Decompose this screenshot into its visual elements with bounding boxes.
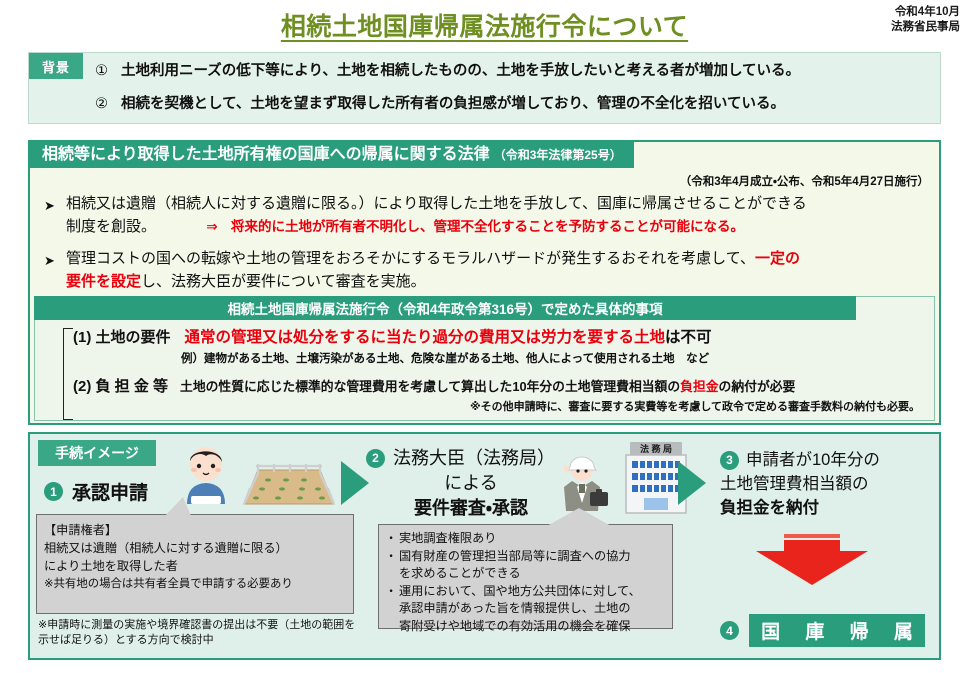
callout-line: ・ 実地調査権限あり [385,530,666,548]
step-3-line-3: 負担金を納付 [720,496,930,520]
callout-line: ・ 運用において、国や地方公共団体に対して、 [385,583,666,601]
law-bullet-emphasis: 要件を設定 [66,273,141,290]
spec-row-note: ※その他申請時に、審査に要する実費等を考慮して政令で定める審査手数料の納付も必要… [57,398,926,414]
step-1-number: 1 [44,482,63,501]
bullet-arrow-icon: ➤ [44,249,55,272]
law-bullet-emphasis: 一定の [755,250,800,267]
law-bullet-line: 要件を設定し、法務大臣が要件について審査を実施。 [66,270,931,293]
spec-box: 相続土地国庫帰属法施行令（令和4年政令第316号）で定めた具体的事項 (1) 土… [34,296,935,421]
step-4-block: 4 国 庫 帰 属 [720,614,925,647]
background-item-text: 相続を契機として、土地を望まず取得した所有者の負担感が増しており、管理の不全化を… [121,88,785,121]
step-2-title: 2 法務大臣（法務局） による 要件審査・承認 [366,446,576,521]
background-item: ① 土地利用ニーズの低下等により、土地を相続したものの、土地を手放したいと考える… [95,55,934,88]
callout-bullet-icon [385,565,399,583]
step-1-title: 1 承認申請 [44,478,148,505]
background-item-number: ① [95,55,121,88]
spec-row-main: 通常の管理又は処分をするに当たり過分の費用又は労力を要する土地は不可 [185,325,712,347]
officer-person-icon [560,450,612,512]
step-4-number: 4 [720,621,739,640]
step-1-callout: 【申請権者】 相続又は遺贈（相続人に対する遺贈に限る） により土地を取得した者 … [36,514,354,614]
callout-bullet-icon: ・ [385,530,399,548]
callout-tail-decoration [547,508,611,526]
bullet-arrow-icon: ➤ [44,194,55,217]
law-bullet-line-text: し、法務大臣が要件について審査を実施。 [141,273,426,290]
law-heading-title: 相続等により取得した土地所有権の国庫への帰属に関する法律 [42,140,490,164]
step-1-footnote: ※申請時に測量の実施や境界確認書の提出は不要（土地の範囲を示せば足りる）とする方… [38,618,358,648]
background-badge: 背景 [29,53,83,79]
step-2-line-3: 要件審査・承認 [366,496,576,521]
callout-line-text: を求めることができる [399,565,521,583]
land-plot-icon [242,460,336,508]
step-3-label: 申請者が10年分の [746,448,880,472]
callout-line-text: 実地調査権限あり [399,530,497,548]
header-date: 令和4年10月 [891,5,960,20]
law-section: 相続等により取得した土地所有権の国庫への帰属に関する法律 （令和3年法律第25号… [28,140,941,425]
spec-row-tail: は不可 [665,329,712,346]
law-bullet: ➤ 相続又は遺贈（相続人に対する遺贈に限る。）により取得した土地を手放して、国庫… [38,192,931,238]
spec-row-label: (2) 負 担 金 等 [73,375,168,396]
law-heading-number: （令和3年法律第25号） [494,146,622,163]
law-effective-note: （令和3年4月成立・公布、令和5年4月27日施行） [680,173,929,189]
step-3-line-2: 土地管理費相当額の [720,472,930,496]
callout-line: 相続又は遺贈（相続人に対する遺贈に限る） [44,539,346,557]
page-title: 相続土地国庫帰属法施行令について [0,7,969,43]
page-header: 相続土地国庫帰属法施行令について 令和4年10月 法務省民事局 [0,0,969,46]
spec-row-emphasis: 通常の管理又は処分をするに当たり過分の費用又は労力を要する土地 [185,329,666,346]
step-3-number: 3 [720,451,739,470]
step-3-line-1: 3 申請者が10年分の [720,448,930,472]
spec-item-list: (1) 土地の要件 通常の管理又は処分をするに当たり過分の費用又は労力を要する土… [57,325,926,414]
law-heading-bar: 相続等により取得した土地所有権の国庫への帰属に関する法律 （令和3年法律第25号… [28,140,634,168]
header-meta: 令和4年10月 法務省民事局 [891,5,960,35]
spec-row-example: 例）建物がある土地、土壌汚染がある土地、危険な崖がある土地、他人によって使用され… [181,350,926,366]
law-bullet-list: ➤ 相続又は遺贈（相続人に対する遺贈に限る。）により取得した土地を手放して、国庫… [38,192,931,302]
callout-line-text: 運用において、国や地方公共団体に対して、 [399,583,641,601]
step-2-number: 2 [366,449,385,468]
callout-line: ・ 国有財産の管理担当部局等に調査への協力 [385,548,666,566]
svg-text:法 務 局: 法 務 局 [640,443,672,454]
background-item-list: ① 土地利用ニーズの低下等により、土地を相続したものの、土地を手放したいと考える… [95,55,934,121]
spec-row-label: (1) 土地の要件 [73,326,171,347]
down-arrow-icon [756,534,868,586]
spec-row-text: の納付が必要 [719,379,796,394]
step-1-label: 承認申請 [72,478,148,505]
background-item-text: 土地利用ニーズの低下等により、土地を相続したものの、土地を手放したいと考える者が… [121,55,800,88]
spec-row-burden-charge: (2) 負 担 金 等 土地の性質に応じた標準的な管理費用を考慮して算出した10… [57,375,926,396]
spec-row-emphasis: 負担金 [680,379,718,394]
callout-line: により土地を取得した者 [44,557,346,575]
callout-line: ※共有地の場合は共有者全員で申請する必要あり [44,575,346,593]
spec-row-main: 土地の性質に応じた標準的な管理費用を考慮して算出した10年分の土地管理費相当額の… [180,376,795,395]
header-issuer: 法務省民事局 [891,20,960,35]
spec-heading-bar: 相続土地国庫帰属法施行令（令和4年政令第316号）で定めた具体的事項 [34,296,856,320]
callout-bullet-icon [385,600,399,618]
procedure-badge: 手続イメージ [38,440,156,466]
callout-line-text: 承認申請があった旨を情報提供し、土地の [399,600,631,618]
law-bullet-line: 制度を創設。 ⇒ 将来的に土地が所有者不明化し、管理不全化することを予防すること… [66,215,931,238]
callout-line-text: 国有財産の管理担当部局等に調査への協力 [399,548,631,566]
step-2-line-2: による [366,471,576,496]
background-item: ② 相続を契機として、土地を望まず取得した所有者の負担感が増しており、管理の不全… [95,88,934,121]
callout-line-text: 寄附受けや地域での有効活用の機会を確保 [399,618,631,636]
background-section: 背景 ① 土地利用ニーズの低下等により、土地を相続したものの、土地を手放したいと… [28,52,941,124]
law-bullet-line: 相続又は遺贈（相続人に対する遺贈に限る。）により取得した土地を手放して、国庫に帰… [66,192,931,215]
step-2-callout: ・ 実地調査権限あり ・ 国有財産の管理担当部局等に調査への協力 を求めることが… [378,524,673,629]
law-bullet-line-text: 管理コストの国への転嫁や土地の管理をおろそかにするモラルハザードが発生するおそれ… [66,250,755,267]
step-3-block: 3 申請者が10年分の 土地管理費相当額の 負担金を納付 [720,448,930,586]
background-item-number: ② [95,88,121,121]
callout-line: 寄附受けや地域での有効活用の機会を確保 [385,618,666,636]
callout-bullet-icon: ・ [385,583,399,601]
law-bullet-line-text: 制度を創設。 [66,218,156,235]
step-2-label: 法務大臣（法務局） [393,446,555,471]
step-3-title: 3 申請者が10年分の 土地管理費相当額の 負担金を納付 [720,448,930,520]
law-bullet-line: 管理コストの国への転嫁や土地の管理をおろそかにするモラルハザードが発生するおそれ… [66,247,931,270]
spec-row-land-requirements: (1) 土地の要件 通常の管理又は処分をするに当たり過分の費用又は労力を要する土… [57,325,926,347]
flow-arrow-right-icon [678,461,706,505]
law-bullet-arrow-note: ⇒ 将来的に土地が所有者不明化し、管理不全化することを予防することが可能になる。 [206,215,744,238]
spec-row-text: 土地の性質に応じた標準的な管理費用を考慮して算出した10年分の土地管理費相当額の [180,379,680,394]
flow-arrow-right-icon [341,461,369,505]
callout-line: 【申請権者】 [44,521,346,539]
callout-line: を求めることができる [385,565,666,583]
procedure-section: 手続イメージ 1 承認申請 [28,432,941,660]
callout-tail-decoration [165,497,191,516]
step-2-line-1: 2 法務大臣（法務局） [366,446,576,471]
callout-bullet-icon [385,618,399,636]
callout-line: 承認申請があった旨を情報提供し、土地の [385,600,666,618]
step-4-result-label: 国 庫 帰 属 [749,614,925,647]
callout-bullet-icon: ・ [385,548,399,566]
law-bullet: ➤ 管理コストの国への転嫁や土地の管理をおろそかにするモラルハザードが発生するお… [38,247,931,293]
